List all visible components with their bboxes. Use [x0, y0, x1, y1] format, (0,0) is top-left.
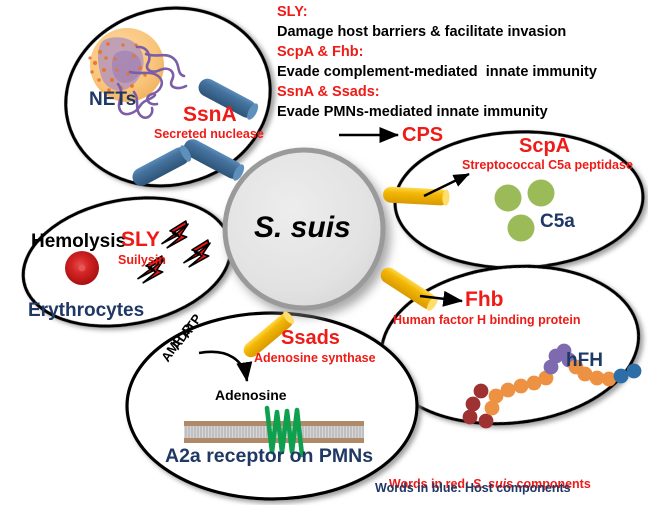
s-suis-center-label: S. suis [254, 210, 351, 245]
erythrocyte [65, 251, 99, 285]
sly-factor-desc: Suilysin [118, 253, 166, 268]
fhb-factor-label: Fhb [465, 288, 503, 313]
legend-desc-0: Damage host barriers & facilitate invasi… [277, 24, 566, 41]
figure-canvas: SLY: Damage host barriers & facilitate i… [0, 0, 648, 505]
ssna-factor-desc: Secreted nuclease [154, 127, 264, 142]
sly-factor-label: SLY [121, 228, 160, 253]
ssna-factor-label: SsnA [183, 103, 237, 128]
scpa-factor-desc: Streptococcal C5a peptidase [462, 158, 633, 173]
hfh-host-label: hFH [566, 350, 603, 372]
fhb-factor-desc: Human factor H binding protein [393, 313, 581, 328]
hemolysis-process-label: Hemolysis [31, 231, 126, 253]
cps-label: CPS [402, 124, 443, 148]
a2a-receptor-host-label: A2a receptor on PMNs [165, 445, 373, 468]
nets-host-label: NETs [89, 89, 136, 111]
legend-key-0: SLY: [277, 4, 308, 21]
color-key-line-2: Words in blue: Host components [375, 481, 571, 496]
legend-desc-2: Evade PMNs-mediated innate immunity [277, 104, 548, 121]
legend-key-2: SsnA & Ssads: [277, 84, 380, 101]
ssads-factor-desc: Adenosine synthase [254, 351, 376, 366]
adenosine-product-label: Adenosine [215, 387, 287, 404]
legend-key-1: ScpA & Fhb: [277, 44, 363, 61]
ssads-factor-label: Ssads [281, 327, 340, 351]
c5a-host-label: C5a [540, 211, 575, 233]
scpa-factor-label: ScpA [519, 135, 570, 159]
erythrocytes-host-label: Erythrocytes [28, 300, 144, 322]
legend-desc-1: Evade complement-mediated innate immunit… [277, 64, 597, 81]
